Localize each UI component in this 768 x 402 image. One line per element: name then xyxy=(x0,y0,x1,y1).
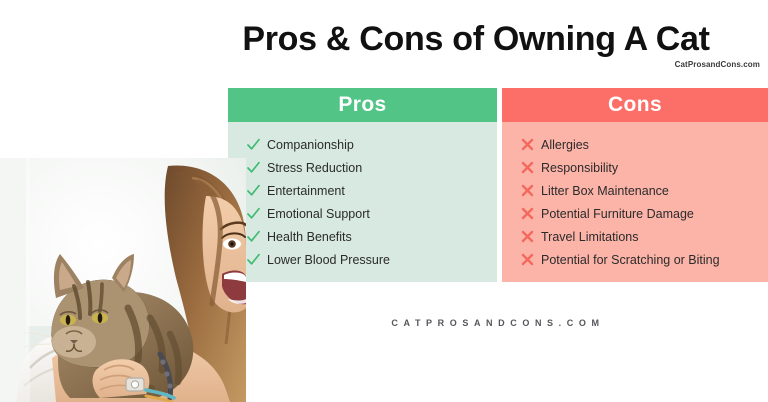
list-item-label: Responsibility xyxy=(541,161,618,175)
list-item: Emotional Support xyxy=(228,202,497,225)
list-item-label: Lower Blood Pressure xyxy=(267,253,390,267)
list-item-label: Entertainment xyxy=(267,184,345,198)
check-icon xyxy=(246,160,261,175)
list-item-label: Allergies xyxy=(541,138,589,152)
list-item: Companionship xyxy=(228,133,497,156)
cross-icon xyxy=(520,206,535,221)
list-item: Potential Furniture Damage xyxy=(502,202,768,225)
list-item: Travel Limitations xyxy=(502,225,768,248)
cons-heading: Cons xyxy=(502,88,768,122)
list-item: Lower Blood Pressure xyxy=(228,248,497,271)
list-item: Stress Reduction xyxy=(228,156,497,179)
infographic-canvas: Pros & Cons of Owning A Cat CatProsandCo… xyxy=(0,0,768,402)
cross-icon xyxy=(520,252,535,267)
list-item-label: Companionship xyxy=(267,138,354,152)
pros-column: Pros Companionship Stress Reduction xyxy=(228,88,497,282)
list-item-label: Emotional Support xyxy=(267,207,370,221)
pros-list: Companionship Stress Reduction Entertain… xyxy=(228,122,497,282)
cross-icon xyxy=(520,183,535,198)
check-icon xyxy=(246,206,261,221)
list-item: Allergies xyxy=(502,133,768,156)
pros-cons-table: Pros Companionship Stress Reduction xyxy=(228,88,768,282)
cross-icon xyxy=(520,229,535,244)
cons-list: Allergies Responsibility Litter Box Main… xyxy=(502,122,768,282)
footer-site-name: CATPROSANDCONS.COM xyxy=(228,318,768,328)
list-item-label: Potential for Scratching or Biting xyxy=(541,253,720,267)
list-item: Responsibility xyxy=(502,156,768,179)
list-item-label: Litter Box Maintenance xyxy=(541,184,669,198)
check-icon xyxy=(246,183,261,198)
attribution-text: CatProsandCons.com xyxy=(675,60,760,69)
woman-holding-tabby-cat-photo xyxy=(0,158,246,402)
list-item-label: Travel Limitations xyxy=(541,230,639,244)
list-item-label: Stress Reduction xyxy=(267,161,362,175)
list-item: Health Benefits xyxy=(228,225,497,248)
list-item-label: Potential Furniture Damage xyxy=(541,207,694,221)
check-icon xyxy=(246,229,261,244)
page-title: Pros & Cons of Owning A Cat xyxy=(196,18,756,60)
list-item-label: Health Benefits xyxy=(267,230,352,244)
list-item: Potential for Scratching or Biting xyxy=(502,248,768,271)
cross-icon xyxy=(520,160,535,175)
pros-heading: Pros xyxy=(228,88,497,122)
check-icon xyxy=(246,252,261,267)
check-icon xyxy=(246,137,261,152)
cons-column: Cons Allergies Responsibility xyxy=(502,88,768,282)
cross-icon xyxy=(520,137,535,152)
list-item: Entertainment xyxy=(228,179,497,202)
list-item: Litter Box Maintenance xyxy=(502,179,768,202)
